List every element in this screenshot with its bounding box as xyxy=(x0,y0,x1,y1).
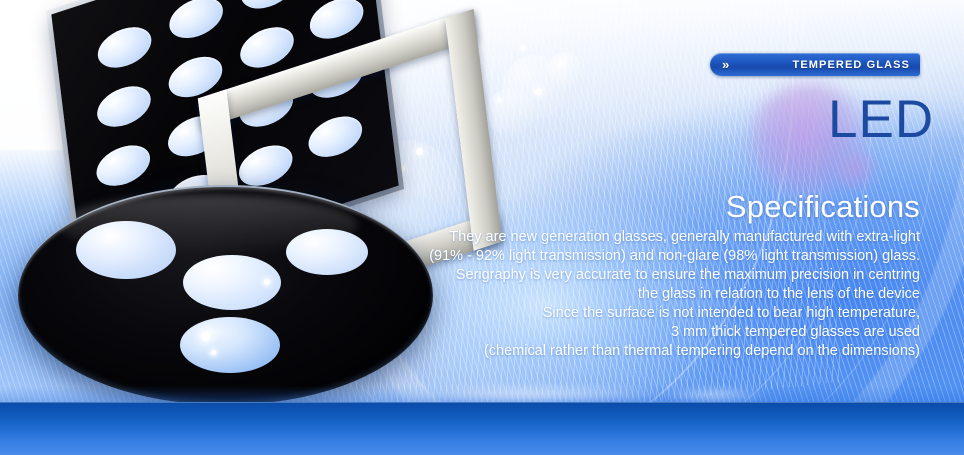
plate-hole xyxy=(94,139,152,193)
banner-label: TEMPERED GLASS xyxy=(793,59,910,71)
bottom-band-highlight xyxy=(390,384,670,404)
tempered-glass-banner[interactable]: » TEMPERED GLASS xyxy=(710,53,920,76)
spec-line: Serigraphy is very accurate to ensure th… xyxy=(300,266,920,285)
spec-line: Since the surface is not intended to bea… xyxy=(300,304,920,323)
led-tempered-glass-banner: » TEMPERED GLASS LED Specifications They… xyxy=(0,0,964,455)
sparkle-dot xyxy=(264,279,270,285)
double-chevron-right-icon: » xyxy=(722,58,728,71)
spec-line: (91% - 92% light transmission) and non-g… xyxy=(300,247,920,266)
sparkle-dot xyxy=(211,350,216,355)
frame-bar-right xyxy=(445,9,502,251)
plate-hole xyxy=(239,0,297,15)
plate-hole xyxy=(96,21,154,75)
plate-hole xyxy=(238,21,296,75)
disc-hole xyxy=(76,221,176,279)
spec-line: They are new generation glasses, general… xyxy=(300,228,920,247)
bottom-band xyxy=(0,402,964,455)
plate-hole xyxy=(167,0,225,45)
spec-line: 3 mm thick tempered glasses are used xyxy=(300,323,920,342)
specifications-text: They are new generation glasses, general… xyxy=(300,228,920,361)
section-title: Specifications xyxy=(726,191,920,222)
plate-hole xyxy=(308,0,366,45)
bottom-band-edge xyxy=(0,402,964,403)
disc-hole xyxy=(180,317,280,373)
spec-line: the glass in relation to the lens of the… xyxy=(300,285,920,304)
spec-line: (chemical rather than thermal tempering … xyxy=(300,342,920,361)
sparkle-dot xyxy=(201,332,210,341)
page-title: LED xyxy=(828,93,934,146)
plate-hole xyxy=(95,80,153,134)
purple-glow-orb-small xyxy=(838,152,880,194)
